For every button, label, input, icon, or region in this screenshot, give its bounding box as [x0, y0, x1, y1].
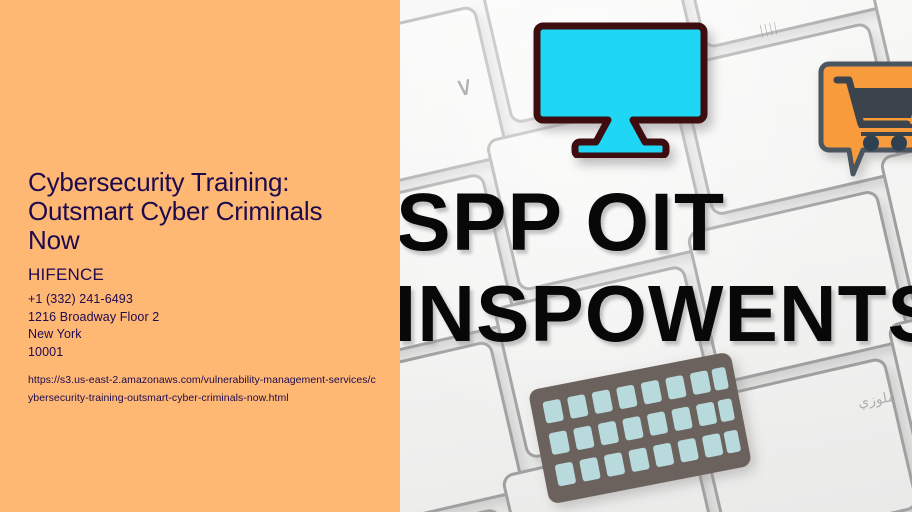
left-info-panel: Cybersecurity Training: Outsmart Cyber C…	[0, 0, 400, 512]
address-zip: 10001	[28, 344, 380, 362]
text-block: Cybersecurity Training: Outsmart Cyber C…	[28, 168, 380, 407]
hero-image: ∨ |||| پ ملوزي جلي SPP OIT INSPOWENTS	[400, 0, 912, 512]
promo-card: Cybersecurity Training: Outsmart Cyber C…	[0, 0, 912, 512]
address-city: New York	[28, 326, 380, 344]
address-street: 1216 Broadway Floor 2	[28, 309, 380, 327]
monitor-icon	[533, 18, 708, 158]
phone-number: +1 (332) 241-6493	[28, 291, 380, 309]
company-name: HIFENCE	[28, 265, 380, 285]
source-url[interactable]: https://s3.us-east-2.amazonaws.com/vulne…	[28, 371, 376, 407]
art-word-line2: INSPOWENTS	[400, 268, 912, 360]
shopping-cart-bubble-icon	[815, 58, 912, 178]
page-title: Cybersecurity Training: Outsmart Cyber C…	[28, 168, 368, 255]
art-word-line1: SPP OIT	[400, 176, 725, 270]
